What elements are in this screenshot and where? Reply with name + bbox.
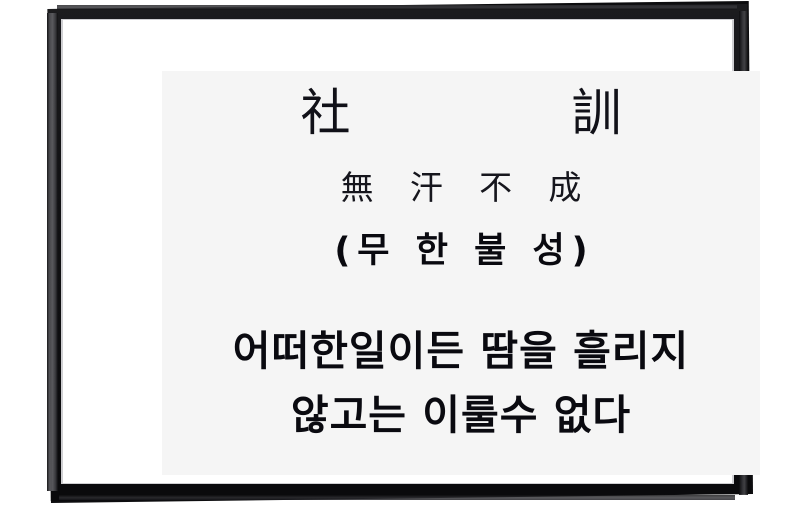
frame-bevel-bottom <box>59 495 735 500</box>
frame-mat: 社 訓 無 汗 不 成 (무 한 불 성) 어떠한일이든 땀을 흘리지 않고는 … <box>63 20 732 483</box>
frame-bevel-left <box>47 13 58 491</box>
motto-line-2: 않고는 이룰수 없다 <box>162 383 760 447</box>
plaque-paper: 社 訓 無 汗 不 成 (무 한 불 성) 어떠한일이든 땀을 흘리지 않고는 … <box>162 71 760 475</box>
title-char-left: 社 <box>301 83 351 143</box>
motto-translation-block: 어떠한일이든 땀을 흘리지 않고는 이룰수 없다 <box>162 319 760 447</box>
wall-background: 社 訓 無 汗 不 成 (무 한 불 성) 어떠한일이든 땀을 흘리지 않고는 … <box>0 0 792 507</box>
title-char-right: 訓 <box>572 83 622 143</box>
motto-line-1: 어떠한일이든 땀을 흘리지 <box>162 319 760 383</box>
plaque-title: 社 訓 <box>162 83 760 143</box>
hangul-reading-line: (무 한 불 성) <box>162 229 760 273</box>
picture-frame: 社 訓 無 汗 不 成 (무 한 불 성) 어떠한일이든 땀을 흘리지 않고는 … <box>41 1 753 503</box>
frame-bevel-top <box>57 5 737 10</box>
hanja-motto-line: 無 汗 不 成 <box>162 169 760 209</box>
